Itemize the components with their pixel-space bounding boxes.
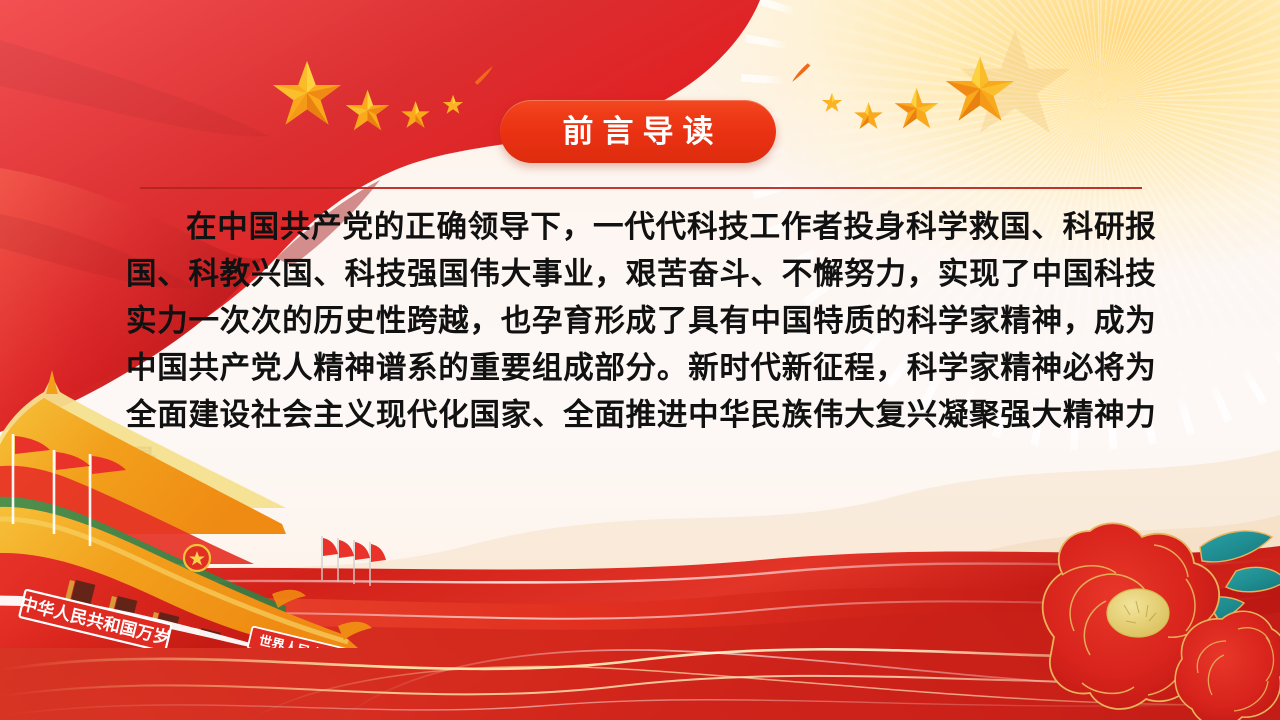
gold-star-icon [442, 94, 464, 116]
spark-streak-icon [469, 62, 501, 90]
gold-star-icon [853, 101, 884, 132]
section-divider [140, 187, 1142, 189]
gold-star-icon [893, 86, 940, 133]
gold-star-icon [270, 58, 344, 132]
gold-star-cluster-left [270, 0, 520, 180]
gold-star-icon [821, 92, 843, 114]
gold-star-icon [943, 54, 1017, 128]
spark-streak-icon [784, 58, 816, 86]
red-peony-flower [986, 519, 1280, 720]
gold-star-icon [400, 100, 431, 131]
gold-star-icon [344, 88, 391, 135]
title-badge-label: 前言导读 [554, 116, 723, 147]
title-badge[interactable]: 前言导读 [500, 100, 776, 163]
slide-canvas: 前言导读 在中国共产党的正确领导下，一代代科技工作者投身科学救国、科研报国、科教… [0, 0, 1280, 720]
tiananmen-gate: 中华人民共和国万岁 世界人民大团结万岁 [0, 358, 406, 648]
gold-star-cluster-right [765, 0, 1015, 180]
